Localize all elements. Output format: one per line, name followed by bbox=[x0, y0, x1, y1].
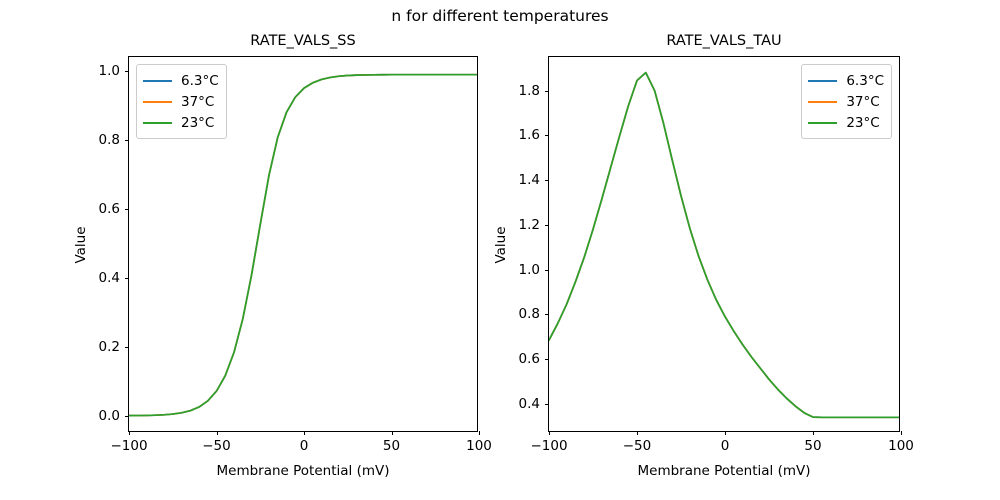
legend-item[interactable]: 23°C bbox=[808, 112, 884, 133]
legend-item-label: 23°C bbox=[846, 115, 879, 131]
y-tick-label: 1.4 bbox=[519, 172, 540, 188]
y-tick-label: 0.8 bbox=[99, 132, 120, 148]
legend-item-label: 6.3°C bbox=[846, 73, 884, 89]
subplot-rate-vals-tau: RATE_VALS_TAU Membrane Potential (mV) Va… bbox=[548, 56, 900, 432]
legend-item[interactable]: 6.3°C bbox=[143, 70, 219, 91]
x-tick-label: 50 bbox=[383, 438, 400, 454]
y-tick-label: 0.4 bbox=[99, 270, 120, 286]
legend-swatch-icon bbox=[808, 101, 837, 103]
subplot-title-tau: RATE_VALS_TAU bbox=[549, 33, 899, 49]
y-tick-label: 0.0 bbox=[99, 408, 120, 424]
x-tick bbox=[304, 431, 305, 435]
x-axis-label-tau: Membrane Potential (mV) bbox=[549, 463, 899, 479]
legend-item[interactable]: 23°C bbox=[143, 112, 219, 133]
subplot-rate-vals-ss: RATE_VALS_SS Membrane Potential (mV) Val… bbox=[128, 56, 478, 432]
legend-item-label: 6.3°C bbox=[181, 73, 219, 89]
x-tick bbox=[217, 431, 218, 435]
y-tick bbox=[545, 225, 549, 226]
y-tick bbox=[125, 278, 129, 279]
legend-swatch-icon bbox=[808, 122, 837, 124]
subplot-title-ss: RATE_VALS_SS bbox=[129, 33, 477, 49]
legend-swatch-icon bbox=[808, 80, 837, 82]
figure-suptitle: n for different temperatures bbox=[0, 6, 1000, 26]
x-tick-label: −100 bbox=[110, 438, 147, 454]
y-tick bbox=[545, 180, 549, 181]
y-tick-label: 1.2 bbox=[519, 217, 540, 233]
y-tick-label: 1.0 bbox=[99, 63, 120, 79]
legend-item-label: 37°C bbox=[181, 94, 214, 110]
y-tick-label: 1.0 bbox=[519, 262, 540, 278]
legend-item[interactable]: 37°C bbox=[808, 91, 884, 112]
legend-item-label: 23°C bbox=[181, 115, 214, 131]
matplotlib-figure: n for different temperatures RATE_VALS_S… bbox=[0, 0, 1000, 500]
legend-item[interactable]: 37°C bbox=[143, 91, 219, 112]
legend-swatch-icon bbox=[143, 122, 172, 124]
y-tick-label: 0.6 bbox=[519, 351, 540, 367]
y-axis-label-tau: Value bbox=[493, 226, 509, 263]
x-tick-label: 100 bbox=[888, 438, 914, 454]
legend-swatch-icon bbox=[143, 101, 172, 103]
y-tick-label: 0.8 bbox=[519, 306, 540, 322]
legend-item[interactable]: 6.3°C bbox=[808, 70, 884, 91]
x-tick bbox=[479, 431, 480, 435]
y-tick bbox=[125, 140, 129, 141]
y-axis-label-ss: Value bbox=[73, 226, 89, 263]
x-tick bbox=[813, 431, 814, 435]
x-axis-label-ss: Membrane Potential (mV) bbox=[129, 463, 477, 479]
x-tick-label: −100 bbox=[530, 438, 567, 454]
y-tick bbox=[125, 347, 129, 348]
legend-swatch-icon bbox=[143, 80, 172, 82]
y-tick bbox=[545, 359, 549, 360]
x-tick bbox=[725, 431, 726, 435]
y-tick-label: 0.2 bbox=[99, 339, 120, 355]
y-tick bbox=[125, 71, 129, 72]
y-tick bbox=[125, 416, 129, 417]
x-tick-label: 0 bbox=[721, 438, 730, 454]
y-tick bbox=[545, 404, 549, 405]
y-tick-label: 0.6 bbox=[99, 201, 120, 217]
y-tick bbox=[545, 270, 549, 271]
x-tick bbox=[901, 431, 902, 435]
y-tick-label: 1.6 bbox=[519, 127, 540, 143]
y-tick bbox=[125, 209, 129, 210]
x-tick-label: −50 bbox=[202, 438, 231, 454]
x-tick-label: 0 bbox=[300, 438, 309, 454]
legend-item-label: 37°C bbox=[846, 94, 879, 110]
legend-tau[interactable]: 6.3°C37°C23°C bbox=[801, 64, 892, 139]
y-tick bbox=[545, 135, 549, 136]
x-tick-label: 100 bbox=[466, 438, 492, 454]
x-tick bbox=[549, 431, 550, 435]
y-tick-label: 0.4 bbox=[519, 396, 540, 412]
x-tick-label: 50 bbox=[804, 438, 821, 454]
y-tick bbox=[545, 91, 549, 92]
x-tick-label: −50 bbox=[623, 438, 652, 454]
y-tick bbox=[545, 314, 549, 315]
legend-ss[interactable]: 6.3°C37°C23°C bbox=[136, 64, 227, 139]
x-tick bbox=[392, 431, 393, 435]
x-tick bbox=[129, 431, 130, 435]
y-tick-label: 1.8 bbox=[519, 83, 540, 99]
x-tick bbox=[637, 431, 638, 435]
